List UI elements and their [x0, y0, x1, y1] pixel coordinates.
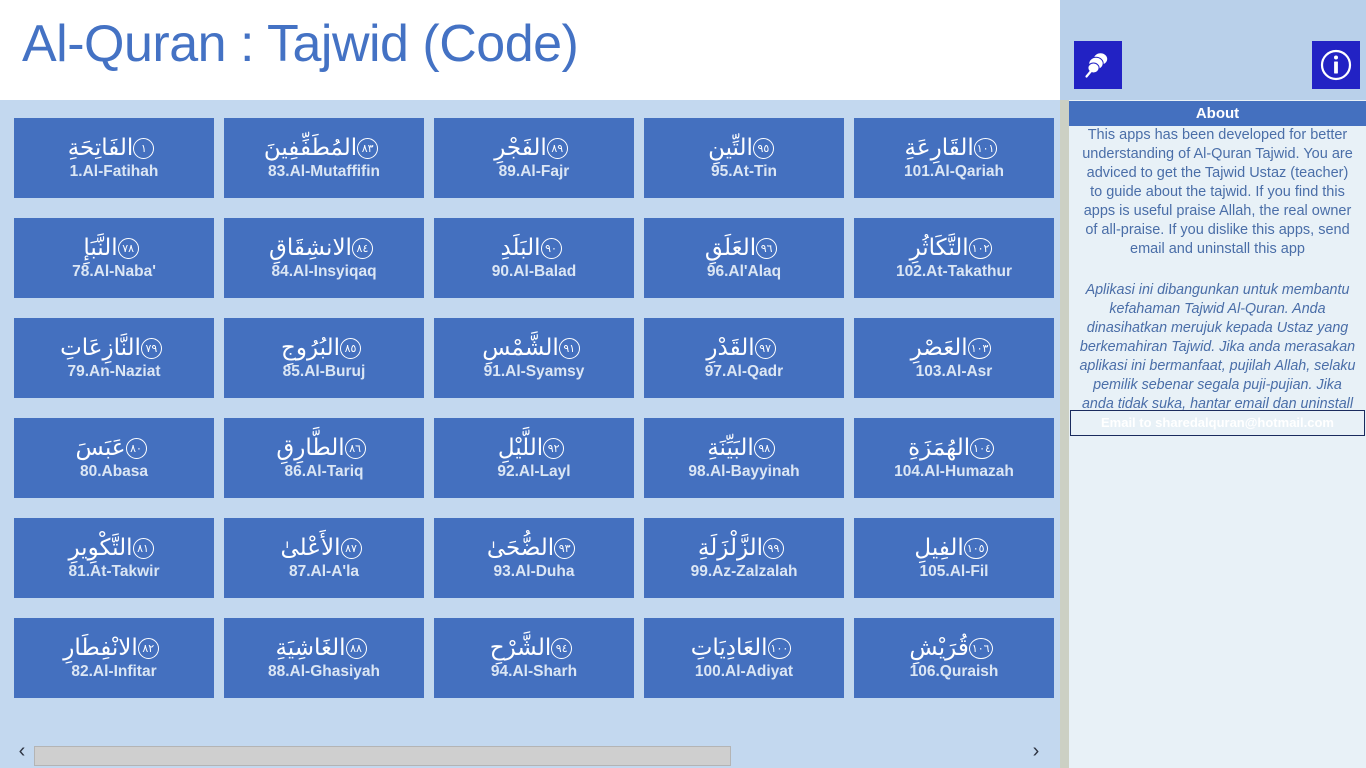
email-button[interactable]: Email to sharedalquran@hotmail.com: [1070, 410, 1365, 436]
surah-arabic-row: ٩٦العَلَقِ: [705, 235, 783, 261]
surah-arabic-name: قُرَيْشِ: [909, 635, 968, 661]
surah-label: 87.Al-A'la: [289, 563, 359, 581]
surah-tile[interactable]: ٩٠البَلَدِ90.Al-Balad: [434, 218, 634, 298]
surah-arabic-row: ٨٩الفَجْرِ: [494, 135, 574, 161]
surah-label: 103.Al-Asr: [916, 363, 993, 381]
surah-tile[interactable]: ٩٧القَدْرِ97.Al-Qadr: [644, 318, 844, 398]
panel-toolbar: [1069, 0, 1366, 100]
surah-arabic-name: الغَاشِيَةِ: [275, 635, 345, 661]
surah-arabic-name: الانْفِطَارِ: [63, 635, 138, 661]
surah-number-medallion: ١٠٦: [969, 638, 993, 659]
surah-arabic-name: الهُمَزَةِ: [908, 435, 970, 461]
surah-label: 106.Quraish: [910, 663, 999, 681]
surah-arabic-name: التَّكَاثُرِ: [910, 235, 969, 261]
surah-number-medallion: ٨٩: [547, 138, 568, 159]
about-body: This apps has been developed for better …: [1069, 126, 1366, 433]
medallion-ring: ٧٩: [141, 338, 162, 359]
surah-arabic-row: ٩٢اللَّيْلِ: [498, 435, 570, 461]
surah-arabic-row: ٨٦الطَّارِقِ: [276, 435, 371, 461]
surah-tile[interactable]: ٩١الشَّمْسِ91.Al-Syamsy: [434, 318, 634, 398]
surah-tile[interactable]: ١الفَاتِحَةِ1.Al-Fatihah: [14, 118, 214, 198]
surah-tile[interactable]: ٨٠عَبَسَ80.Abasa: [14, 418, 214, 498]
surah-number-medallion: ٩٩: [763, 538, 784, 559]
medallion-ring: ٧٨: [118, 238, 139, 259]
medallion-ring: ١٠٥: [964, 538, 988, 559]
panel-divider-top: [1060, 0, 1069, 100]
surah-arabic-name: الأَعْلىٰ: [280, 535, 340, 561]
page-title: Al-Quran : Tajwid (Code): [22, 14, 578, 74]
surah-tile[interactable]: ٧٩النَّازِعَاتِ79.An-Naziat: [14, 318, 214, 398]
medallion-ring: ٩٥: [753, 138, 774, 159]
medallion-ring: ٨٤: [352, 238, 373, 259]
surah-arabic-row: ٨٧الأَعْلىٰ: [280, 535, 367, 561]
surah-number-medallion: ٩٢: [543, 438, 564, 459]
surah-number-medallion: ١٠٠: [768, 638, 792, 659]
surah-arabic-name: الزَّلْزَلَةِ: [698, 535, 763, 561]
medallion-ring: ٩٢: [543, 438, 564, 459]
surah-number-medallion: ٨١: [133, 538, 154, 559]
surah-tile[interactable]: ٩٥التِّينِ95.At-Tin: [644, 118, 844, 198]
surah-arabic-row: ٨٥البُرُوجِ: [281, 335, 367, 361]
surah-tile[interactable]: ٩٨البَيِّنَةِ98.Al-Bayyinah: [644, 418, 844, 498]
medallion-ring: ٩١: [559, 338, 580, 359]
scroll-right-arrow-icon[interactable]: ›: [1024, 740, 1048, 762]
surah-arabic-row: ٨٢الانْفِطَارِ: [63, 635, 165, 661]
surah-tile[interactable]: ١٠٥الفِيلِ105.Al-Fil: [854, 518, 1054, 598]
surah-label: 95.At-Tin: [711, 163, 777, 181]
surah-arabic-name: التِّينِ: [708, 135, 753, 161]
surah-tile[interactable]: ٧٨النَّبَإِ78.Al-Naba': [14, 218, 214, 298]
surah-label: 97.Al-Qadr: [705, 363, 783, 381]
app-header: Al-Quran : Tajwid (Code): [0, 0, 1060, 100]
surah-arabic-row: ١٠٥الفِيلِ: [914, 535, 993, 561]
surah-arabic-name: التَّكْوِيرِ: [68, 535, 132, 561]
surah-arabic-name: القَارِعَةِ: [905, 135, 974, 161]
medallion-ring: ٩٧: [755, 338, 776, 359]
surah-arabic-name: الفَاتِحَةِ: [68, 135, 134, 161]
medallion-ring: ١٠٤: [970, 438, 994, 459]
surah-tile[interactable]: ٨٨الغَاشِيَةِ88.Al-Ghasiyah: [224, 618, 424, 698]
surah-grid-area: ١الفَاتِحَةِ1.Al-Fatihah٨٣المُطَفِّفِينَ…: [0, 100, 1060, 734]
panel-divider: [1060, 0, 1069, 768]
surah-tile[interactable]: ٨٧الأَعْلىٰ87.Al-A'la: [224, 518, 424, 598]
about-panel: About This apps has been developed for b…: [1069, 0, 1366, 768]
surah-arabic-row: ٨١التَّكْوِيرِ: [68, 535, 159, 561]
surah-tile[interactable]: ٨٢الانْفِطَارِ82.Al-Infitar: [14, 618, 214, 698]
surah-number-medallion: ٨٨: [346, 638, 367, 659]
medallion-ring: ٨٢: [138, 638, 159, 659]
medallion-ring: ٩٤: [551, 638, 572, 659]
surah-arabic-name: العَادِيَاتِ: [691, 635, 768, 661]
surah-label: 98.Al-Bayyinah: [688, 463, 799, 481]
surah-arabic-row: ١٠٠العَادِيَاتِ: [691, 635, 798, 661]
surah-tile[interactable]: ٨١التَّكْوِيرِ81.At-Takwir: [14, 518, 214, 598]
surah-arabic-row: ٩٥التِّينِ: [708, 135, 780, 161]
surah-arabic-row: ٩٧القَدْرِ: [706, 335, 781, 361]
surah-label: 80.Abasa: [80, 463, 148, 481]
surah-tile[interactable]: ١٠٢التَّكَاثُرِ102.At-Takathur: [854, 218, 1054, 298]
surah-arabic-name: المُطَفِّفِينَ: [264, 135, 357, 161]
surah-number-medallion: ٩٦: [756, 238, 777, 259]
medallion-ring: ٨١: [133, 538, 154, 559]
medallion-ring: ١٠٠: [768, 638, 792, 659]
medallion-ring: ١٠٦: [969, 638, 993, 659]
surah-label: 78.Al-Naba': [72, 263, 156, 281]
surah-number-medallion: ٨٦: [345, 438, 366, 459]
medallion-ring: ٨٥: [340, 338, 361, 359]
surah-number-medallion: ٨٤: [352, 238, 373, 259]
surah-arabic-row: ١٠٤الهُمَزَةِ: [908, 435, 1000, 461]
surah-label: 105.Al-Fil: [920, 563, 989, 581]
medallion-ring: ١٠٢: [969, 238, 993, 259]
surah-tile[interactable]: ٨٦الطَّارِقِ86.Al-Tariq: [224, 418, 424, 498]
about-text-english: This apps has been developed for better …: [1079, 126, 1356, 259]
surah-label: 82.Al-Infitar: [71, 663, 156, 681]
surah-tile[interactable]: ٩٤الشَّرْحِ94.Al-Sharh: [434, 618, 634, 698]
surah-arabic-name: الضُّحَىٰ: [487, 535, 554, 561]
surah-tile[interactable]: ٩٢اللَّيْلِ92.Al-Layl: [434, 418, 634, 498]
surah-number-medallion: ٧٩: [141, 338, 162, 359]
surah-arabic-name: عَبَسَ: [76, 435, 126, 461]
surah-label: 81.At-Takwir: [68, 563, 159, 581]
surah-tile[interactable]: ٨٩الفَجْرِ89.Al-Fajr: [434, 118, 634, 198]
surah-number-medallion: ٨٠: [126, 438, 147, 459]
pushpin-icon: [1083, 50, 1113, 80]
surah-arabic-name: القَدْرِ: [706, 335, 754, 361]
surah-label: 89.Al-Fajr: [499, 163, 570, 181]
surah-arabic-row: ١٠٣العَصْرِ: [911, 335, 998, 361]
medallion-ring: ٨٠: [126, 438, 147, 459]
medallion-ring: ١٠١: [974, 138, 998, 159]
surah-arabic-row: ٨٣المُطَفِّفِينَ: [264, 135, 384, 161]
surah-arabic-row: ٩١الشَّمْسِ: [482, 335, 586, 361]
surah-arabic-row: ٧٨النَّبَإِ: [83, 235, 144, 261]
surah-label: 92.Al-Layl: [497, 463, 570, 481]
surah-arabic-name: العَلَقِ: [705, 235, 756, 261]
surah-label: 83.Al-Mutaffifin: [268, 163, 380, 181]
surah-tile[interactable]: ٨٤الانشِقَاقِ84.Al-Insyiqaq: [224, 218, 424, 298]
surah-label: 94.Al-Sharh: [491, 663, 577, 681]
surah-number-medallion: ٩٠: [541, 238, 562, 259]
surah-tile[interactable]: ١٠٤الهُمَزَةِ104.Al-Humazah: [854, 418, 1054, 498]
medallion-ring: ١: [133, 138, 154, 159]
surah-tile-grid: ١الفَاتِحَةِ1.Al-Fatihah٨٣المُطَفِّفِينَ…: [14, 118, 1054, 698]
surah-arabic-name: البَلَدِ: [500, 235, 540, 261]
surah-label: 88.Al-Ghasiyah: [268, 663, 380, 681]
surah-label: 102.At-Takathur: [896, 263, 1012, 281]
info-button[interactable]: [1312, 41, 1360, 89]
surah-number-medallion: ١٠٣: [968, 338, 992, 359]
surah-arabic-row: ٨٤الانشِقَاقِ: [269, 235, 379, 261]
surah-tile[interactable]: ٩٦العَلَقِ96.Al'Alaq: [644, 218, 844, 298]
medallion-ring: ٩٣: [554, 538, 575, 559]
surah-arabic-name: الشَّرْحِ: [490, 635, 551, 661]
surah-number-medallion: ٨٧: [341, 538, 362, 559]
surah-arabic-row: ٩٤الشَّرْحِ: [490, 635, 578, 661]
surah-label: 91.Al-Syamsy: [484, 363, 585, 381]
surah-arabic-row: ١٠١القَارِعَةِ: [905, 135, 1004, 161]
surah-arabic-name: النَّبَإِ: [83, 235, 117, 261]
surah-arabic-name: العَصْرِ: [911, 335, 968, 361]
surah-label: 104.Al-Humazah: [894, 463, 1014, 481]
surah-arabic-row: ٨٠عَبَسَ: [76, 435, 153, 461]
surah-arabic-name: الطَّارِقِ: [276, 435, 344, 461]
surah-number-medallion: ١٠٤: [970, 438, 994, 459]
surah-arabic-name: اللَّيْلِ: [498, 435, 543, 461]
surah-tile[interactable]: ١٠٦قُرَيْشِ106.Quraish: [854, 618, 1054, 698]
surah-tile[interactable]: ١٠٠العَادِيَاتِ100.Al-Adiyat: [644, 618, 844, 698]
surah-arabic-row: ١٠٢التَّكَاثُرِ: [910, 235, 999, 261]
surah-number-medallion: ٧٨: [118, 238, 139, 259]
surah-number-medallion: ٩٧: [755, 338, 776, 359]
app-window: Al-Quran : Tajwid (Code) ١الفَاتِحَةِ1.A…: [0, 0, 1366, 768]
surah-number-medallion: ٨٥: [340, 338, 361, 359]
surah-tile[interactable]: ٨٣المُطَفِّفِينَ83.Al-Mutaffifin: [224, 118, 424, 198]
surah-label: 85.Al-Buruj: [283, 363, 366, 381]
surah-label: 99.Az-Zalzalah: [691, 563, 798, 581]
surah-arabic-name: الفَجْرِ: [494, 135, 547, 161]
surah-number-medallion: ٩٣: [554, 538, 575, 559]
surah-number-medallion: ٩٤: [551, 638, 572, 659]
medallion-ring: ٩٦: [756, 238, 777, 259]
medallion-ring: ٨٣: [357, 138, 378, 159]
medallion-ring: ٩٠: [541, 238, 562, 259]
medallion-ring: ٩٨: [754, 438, 775, 459]
surah-number-medallion: ٩٨: [754, 438, 775, 459]
info-icon: [1319, 48, 1353, 82]
surah-tile[interactable]: ٨٥البُرُوجِ85.Al-Buruj: [224, 318, 424, 398]
surah-label: 86.Al-Tariq: [285, 463, 364, 481]
surah-label: 79.An-Naziat: [67, 363, 160, 381]
surah-label: 90.Al-Balad: [492, 263, 576, 281]
surah-tile[interactable]: ٩٩الزَّلْزَلَةِ99.Az-Zalzalah: [644, 518, 844, 598]
surah-tile[interactable]: ٩٣الضُّحَىٰ93.Al-Duha: [434, 518, 634, 598]
scroll-left-arrow-icon[interactable]: ‹: [10, 740, 34, 762]
medallion-ring: ٩٩: [763, 538, 784, 559]
surah-number-medallion: ٩٥: [753, 138, 774, 159]
surah-label: 101.Al-Qariah: [904, 163, 1004, 181]
surah-number-medallion: ٨٢: [138, 638, 159, 659]
medallion-ring: ٨٨: [346, 638, 367, 659]
surah-label: 100.Al-Adiyat: [695, 663, 793, 681]
surah-label: 96.Al'Alaq: [707, 263, 781, 281]
surah-arabic-row: ١الفَاتِحَةِ: [68, 135, 161, 161]
surah-arabic-row: ٨٨الغَاشِيَةِ: [275, 635, 372, 661]
surah-number-medallion: ١: [133, 138, 154, 159]
surah-arabic-row: ٩٣الضُّحَىٰ: [487, 535, 581, 561]
surah-tile[interactable]: ١٠١القَارِعَةِ101.Al-Qariah: [854, 118, 1054, 198]
medallion-ring: ٨٦: [345, 438, 366, 459]
medallion-ring: ٨٩: [547, 138, 568, 159]
surah-label: 1.Al-Fatihah: [70, 163, 159, 181]
medallion-ring: ١٠٣: [968, 338, 992, 359]
surah-number-medallion: ٨٣: [357, 138, 378, 159]
surah-arabic-row: ١٠٦قُرَيْشِ: [909, 635, 998, 661]
surah-number-medallion: ١٠٢: [969, 238, 993, 259]
surah-arabic-row: ٩٠البَلَدِ: [500, 235, 567, 261]
surah-arabic-row: ٧٩النَّازِعَاتِ: [60, 335, 168, 361]
surah-arabic-name: النَّازِعَاتِ: [60, 335, 141, 361]
surah-tile[interactable]: ١٠٣العَصْرِ103.Al-Asr: [854, 318, 1054, 398]
surah-arabic-row: ٩٨البَيِّنَةِ: [707, 435, 781, 461]
surah-number-medallion: ٩١: [559, 338, 580, 359]
surah-arabic-name: الشَّمْسِ: [482, 335, 559, 361]
surah-number-medallion: ١٠٥: [964, 538, 988, 559]
scrollbar-thumb[interactable]: [34, 746, 731, 766]
surah-arabic-name: الانشِقَاقِ: [269, 235, 352, 261]
surah-label: 93.Al-Duha: [494, 563, 575, 581]
surah-label: 84.Al-Insyiqaq: [271, 263, 376, 281]
pushpin-button[interactable]: [1074, 41, 1122, 89]
surah-arabic-name: البَيِّنَةِ: [707, 435, 754, 461]
medallion-ring: ٨٧: [341, 538, 362, 559]
about-section-header: About: [1069, 101, 1366, 126]
surah-arabic-name: الفِيلِ: [914, 535, 963, 561]
surah-number-medallion: ١٠١: [974, 138, 998, 159]
surah-arabic-name: البُرُوجِ: [281, 335, 340, 361]
surah-arabic-row: ٩٩الزَّلْزَلَةِ: [698, 535, 790, 561]
